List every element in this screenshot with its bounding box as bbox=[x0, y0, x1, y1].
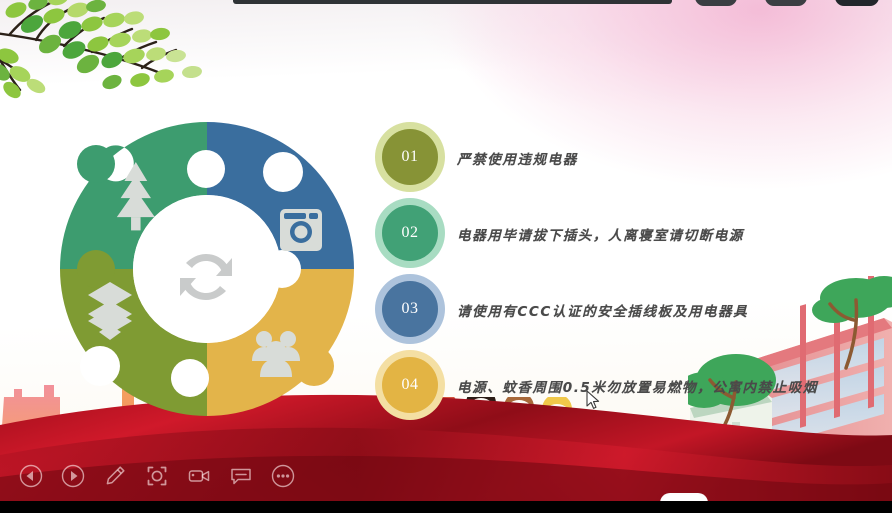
screen-bottom-bezel bbox=[0, 501, 892, 513]
video-camera-icon bbox=[187, 464, 211, 488]
item-text: 请使用有CCC认证的安全插线板及用电器具 bbox=[457, 300, 748, 320]
pen-annotate-button[interactable] bbox=[98, 459, 132, 493]
item-badge-03: 03 bbox=[375, 274, 445, 344]
record-video-button[interactable] bbox=[182, 459, 216, 493]
item-number: 04 bbox=[382, 357, 438, 413]
laser-target-icon bbox=[145, 464, 169, 488]
minimize-button[interactable] bbox=[695, 0, 737, 6]
laser-pointer-button[interactable] bbox=[140, 459, 174, 493]
item-number: 01 bbox=[382, 129, 438, 185]
speech-bubble-icon bbox=[229, 464, 253, 488]
presentation-slide-viewer: 01 严禁使用违规电器 02 电器用毕请拔下插头，人离寝室请切断电源 03 请使… bbox=[0, 0, 892, 513]
comment-button[interactable] bbox=[224, 459, 258, 493]
next-slide-button[interactable] bbox=[56, 459, 90, 493]
green-leafy-branch bbox=[0, 0, 242, 109]
maximize-button[interactable] bbox=[765, 0, 807, 6]
chevron-right-circle-icon bbox=[61, 464, 85, 488]
item-badge-04: 04 bbox=[375, 350, 445, 420]
chevron-left-circle-icon bbox=[19, 464, 43, 488]
item-number: 02 bbox=[382, 205, 438, 261]
close-button[interactable] bbox=[835, 0, 879, 6]
instagram-camera-icon bbox=[280, 209, 322, 251]
item-number: 03 bbox=[382, 281, 438, 337]
refresh-sync-icon bbox=[176, 248, 236, 306]
item-badge-01: 01 bbox=[375, 122, 445, 192]
presentation-toolbar bbox=[14, 459, 300, 493]
item-text: 电源、蚊香周围0.5米勿放置易燃物，公寓内禁止吸烟 bbox=[457, 376, 818, 396]
item-text: 严禁使用违规电器 bbox=[457, 148, 578, 168]
more-options-button[interactable] bbox=[266, 459, 300, 493]
pen-icon bbox=[103, 464, 127, 488]
ellipsis-circle-icon bbox=[271, 464, 295, 488]
list-item: 03 请使用有CCC认证的安全插线板及用电器具 bbox=[375, 274, 875, 350]
window-title-bar bbox=[233, 0, 672, 4]
mouse-cursor bbox=[586, 390, 600, 410]
item-text: 电器用毕请拔下插头，人离寝室请切断电源 bbox=[457, 224, 744, 244]
safety-rules-list: 01 严禁使用违规电器 02 电器用毕请拔下插头，人离寝室请切断电源 03 请使… bbox=[375, 122, 875, 426]
item-badge-02: 02 bbox=[375, 198, 445, 268]
list-item: 04 电源、蚊香周围0.5米勿放置易燃物，公寓内禁止吸烟 bbox=[375, 350, 875, 426]
previous-slide-button[interactable] bbox=[14, 459, 48, 493]
list-item: 01 严禁使用违规电器 bbox=[375, 122, 875, 198]
list-item: 02 电器用毕请拔下插头，人离寝室请切断电源 bbox=[375, 198, 875, 274]
